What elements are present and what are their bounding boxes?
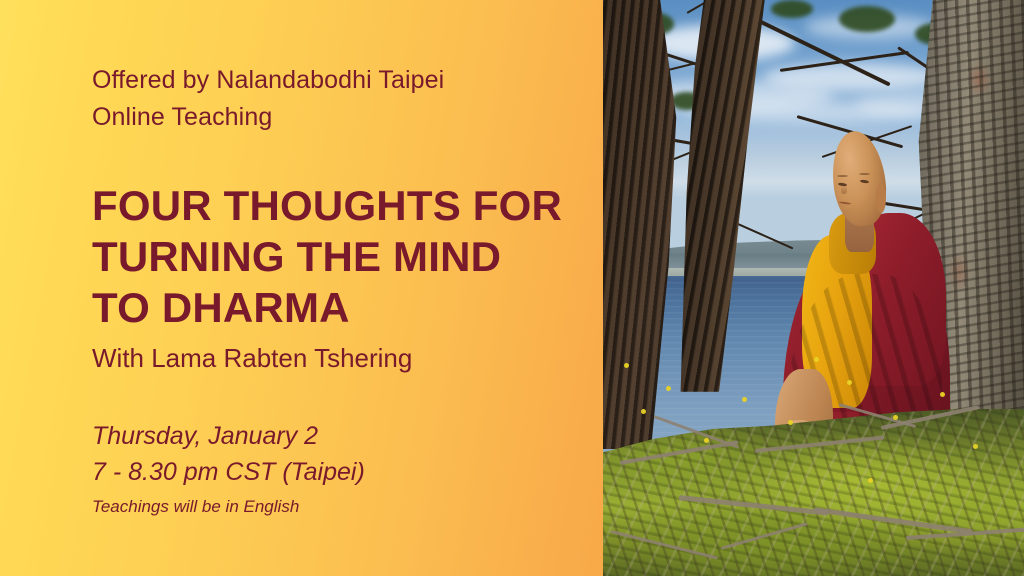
monk-eyebrow bbox=[859, 173, 870, 175]
title-line-3: TO DHARMA bbox=[92, 282, 592, 333]
yellow-wildflower bbox=[624, 363, 629, 368]
monk-meditation-photo bbox=[603, 0, 1024, 576]
monk-ear bbox=[876, 183, 886, 213]
offered-by-line-1: Offered by Nalandabodhi Taipei bbox=[92, 62, 562, 99]
event-date: Thursday, January 2 bbox=[92, 418, 592, 454]
yellow-wildflower bbox=[641, 409, 646, 414]
language-note: Teachings will be in English bbox=[92, 493, 592, 520]
text-panel: Offered by Nalandabodhi Taipei Online Te… bbox=[0, 0, 603, 576]
event-time: 7 - 8.30 pm CST (Taipei) bbox=[92, 454, 592, 490]
yellow-wildflower bbox=[704, 438, 709, 443]
yellow-wildflower bbox=[814, 357, 819, 362]
title-line-1: FOUR THOUGHTS FOR bbox=[92, 180, 592, 231]
page-title: FOUR THOUGHTS FOR TURNING THE MIND TO DH… bbox=[92, 180, 592, 333]
schedule-block: Thursday, January 2 7 - 8.30 pm CST (Tai… bbox=[92, 418, 592, 520]
title-line-2: TURNING THE MIND bbox=[92, 231, 592, 282]
monk-nose bbox=[841, 185, 847, 194]
presenter-name: With Lama Rabten Tshering bbox=[92, 341, 592, 375]
offered-by-line-2: Online Teaching bbox=[92, 99, 562, 136]
offered-by-block: Offered by Nalandabodhi Taipei Online Te… bbox=[92, 62, 562, 136]
event-poster: Offered by Nalandabodhi Taipei Online Te… bbox=[0, 0, 1024, 576]
yellow-wildflower bbox=[940, 392, 945, 397]
